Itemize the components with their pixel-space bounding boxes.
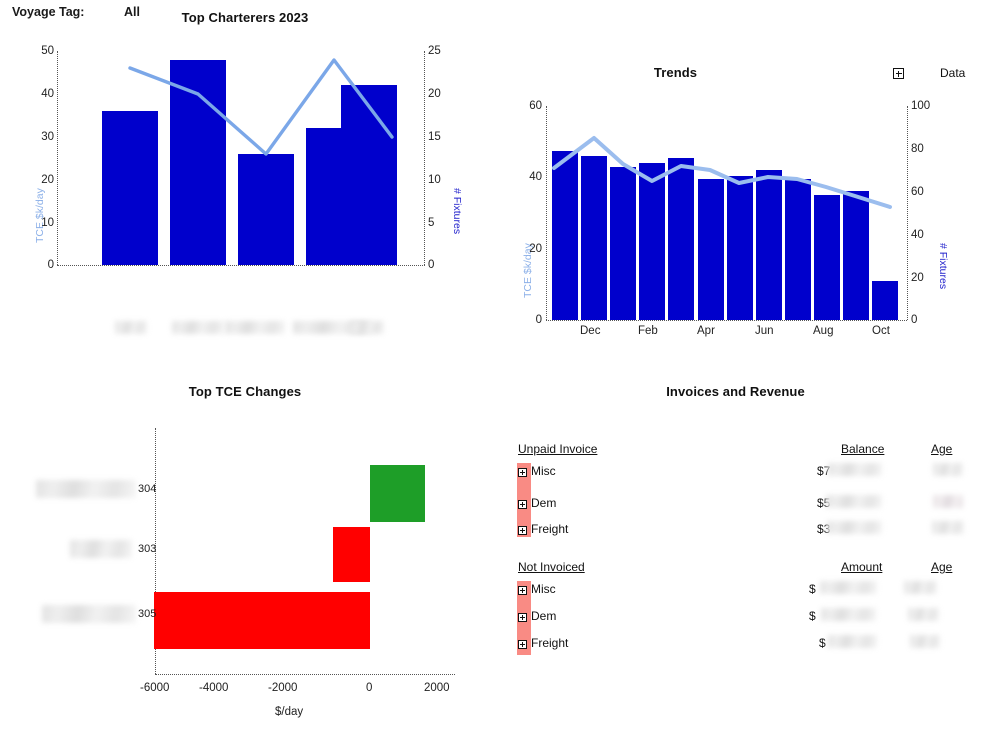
x-tick-aug: Aug xyxy=(813,325,833,337)
tce-category-suffix-1: 304 xyxy=(138,483,156,495)
fixtures-line-chart xyxy=(0,0,490,290)
not-invoiced-section-label: Not Invoiced xyxy=(518,560,585,574)
unpaid-row-category: Misc xyxy=(531,464,556,478)
unpaid-row-age-redacted xyxy=(933,495,963,508)
tce-changes-title: Top TCE Changes xyxy=(0,384,490,399)
not-invoiced-row-category: Freight xyxy=(531,636,568,650)
x-tick-2000: 2000 xyxy=(424,682,450,694)
x-tick-feb: Feb xyxy=(638,325,658,337)
unpaid-row-balance-redacted xyxy=(827,521,882,534)
x-label-redacted-3 xyxy=(225,321,285,334)
x-tick-apr: Apr xyxy=(697,325,715,337)
x-tick-dec: Dec xyxy=(580,325,600,337)
bar-tce-change-2[interactable] xyxy=(333,527,370,582)
fixtures-line-chart xyxy=(490,55,981,345)
bar-tce-change-3[interactable] xyxy=(154,592,370,649)
not-invoiced-row-amount-prefix: $ xyxy=(809,582,816,596)
panel-trends: Trends Data TCE $k/day # Fixtures 60 40 … xyxy=(490,55,981,345)
tce-category-suffix-3: 305 xyxy=(138,608,156,620)
x-label-redacted-2 xyxy=(172,321,224,334)
unpaid-invoice-section-label: Unpaid Invoice xyxy=(518,442,597,456)
unpaid-balance-column-header: Balance xyxy=(841,442,884,456)
not-invoiced-amount-column-header: Amount xyxy=(841,560,882,574)
tce-category-redacted-3 xyxy=(42,605,136,623)
unpaid-row-category: Dem xyxy=(531,496,556,510)
unpaid-row-age-redacted xyxy=(933,463,963,476)
panel-tce-changes: Top TCE Changes 304 303 305 -6000 -4000 … xyxy=(0,370,490,730)
not-invoiced-row-age-redacted xyxy=(910,635,940,648)
panel-invoices-revenue: Invoices and Revenue Unpaid Invoice Bala… xyxy=(490,370,981,670)
x-label-redacted-1 xyxy=(115,321,147,334)
tce-category-redacted-1 xyxy=(36,480,136,498)
unpaid-row-age-redacted xyxy=(932,521,964,534)
not-invoiced-row-amount-redacted xyxy=(828,635,877,648)
x-tick-neg2000: -2000 xyxy=(268,682,297,694)
bar-tce-change-1[interactable] xyxy=(370,465,425,522)
panel-top-charterers: Top Charterers 2023 TCE $k/day # Fixture… xyxy=(0,0,490,290)
not-invoiced-row-category: Misc xyxy=(531,582,556,596)
unpaid-age-column-header: Age xyxy=(931,442,952,456)
unpaid-row-category: Freight xyxy=(531,522,568,536)
not-invoiced-row-amount-redacted xyxy=(821,608,876,621)
x-tick-neg4000: -4000 xyxy=(199,682,228,694)
not-invoiced-row-amount-prefix: $ xyxy=(809,609,816,623)
not-invoiced-row-category: Dem xyxy=(531,609,556,623)
x-tick-neg6000: -6000 xyxy=(140,682,169,694)
expand-row-icon[interactable] xyxy=(518,613,527,622)
not-invoiced-row-amount-prefix: $ xyxy=(819,636,826,650)
expand-row-icon[interactable] xyxy=(518,526,527,535)
value-axis-title: $/day xyxy=(275,706,303,718)
not-invoiced-row-age-redacted xyxy=(908,608,939,621)
not-invoiced-row-age-redacted xyxy=(904,581,937,594)
x-label-redacted-5 xyxy=(350,321,384,334)
x-tick-oct: Oct xyxy=(872,325,890,337)
value-axis-line xyxy=(155,674,455,675)
invoices-title: Invoices and Revenue xyxy=(490,384,981,399)
expand-row-icon[interactable] xyxy=(518,640,527,649)
expand-row-icon[interactable] xyxy=(518,468,527,477)
expand-row-icon[interactable] xyxy=(518,586,527,595)
unpaid-row-balance-redacted xyxy=(828,463,882,476)
tce-category-suffix-2: 303 xyxy=(138,543,156,555)
tce-category-redacted-2 xyxy=(70,540,132,558)
x-tick-jun: Jun xyxy=(755,325,774,337)
unpaid-row-balance-redacted xyxy=(826,495,882,508)
expand-row-icon[interactable] xyxy=(518,500,527,509)
x-tick-0: 0 xyxy=(366,682,372,694)
not-invoiced-row-amount-redacted xyxy=(820,581,877,594)
not-invoiced-age-column-header: Age xyxy=(931,560,952,574)
